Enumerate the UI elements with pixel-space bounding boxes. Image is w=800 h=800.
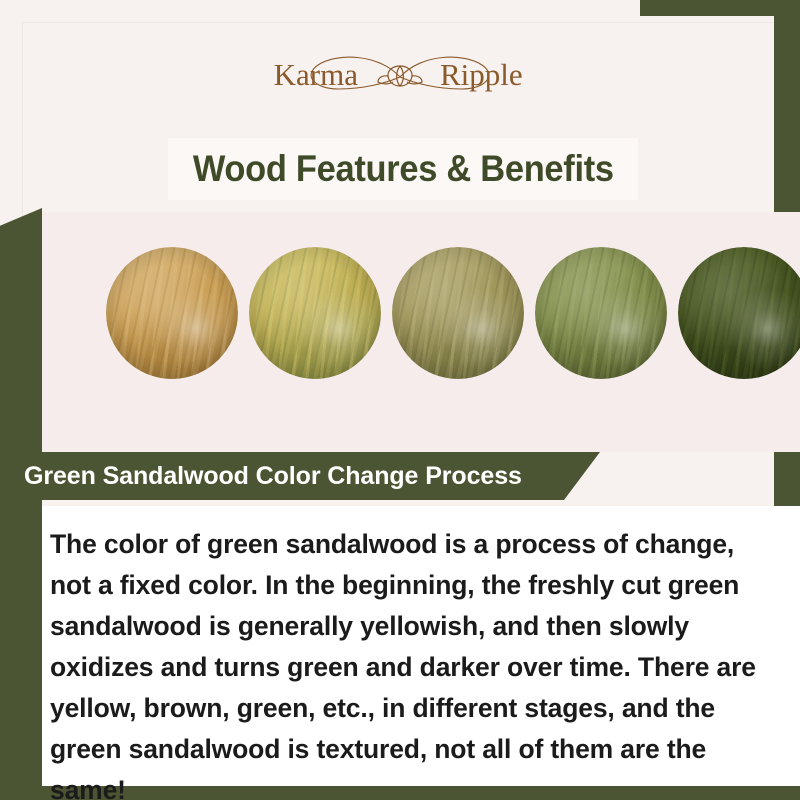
bead-stage-3 — [392, 247, 524, 379]
page-title: Wood Features & Benefits — [193, 148, 614, 190]
body-text-block: The color of green sandalwood is a proce… — [42, 506, 800, 786]
bead-stage-5-shading — [678, 247, 800, 379]
frame-band-left — [0, 208, 42, 800]
brand-name-left: Karma — [274, 57, 359, 92]
brand-logo-svg: Karma Ripple — [260, 45, 540, 109]
title-card: Wood Features & Benefits — [168, 138, 638, 200]
bead-stage-4 — [535, 247, 667, 379]
poster-canvas: Karma Ripple Wood Features & Benefits Gr… — [0, 0, 800, 800]
section-banner: Green Sandalwood Color Change Process — [0, 452, 600, 500]
brand-logo: Karma Ripple — [0, 44, 800, 110]
bead-row — [42, 212, 800, 452]
bead-stage-5 — [678, 247, 800, 379]
bead-stage-1 — [106, 247, 238, 379]
bead-stage-4-shading — [535, 247, 667, 379]
bead-gallery-panel — [42, 212, 800, 452]
section-banner-label: Green Sandalwood Color Change Process — [24, 462, 522, 491]
bead-stage-3-shading — [392, 247, 524, 379]
bead-stage-1-shading — [106, 247, 238, 379]
brand-name-right: Ripple — [440, 57, 523, 92]
body-paragraph: The color of green sandalwood is a proce… — [50, 524, 780, 800]
bead-stage-2 — [249, 247, 381, 379]
bead-stage-2-shading — [249, 247, 381, 379]
